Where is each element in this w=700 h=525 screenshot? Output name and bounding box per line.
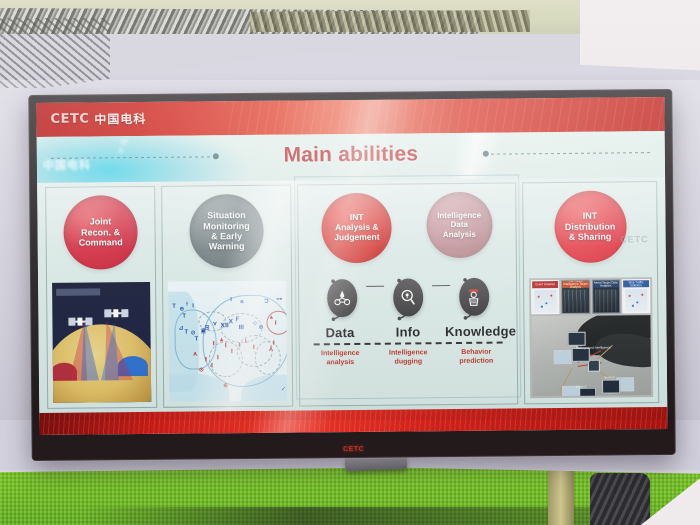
beam-blue-right xyxy=(100,322,119,380)
map-node-chip xyxy=(572,348,590,362)
data-molecule-icon xyxy=(327,279,357,317)
map-unit: ⊿ xyxy=(178,326,183,332)
map-unit: Ɔ xyxy=(264,299,268,305)
bubble-line-2: Data xyxy=(437,220,481,230)
thumbnail-content xyxy=(534,290,556,312)
magnifier-icon xyxy=(393,278,423,316)
artwork-intel-distribution: Event situation The Threat Intelligence … xyxy=(529,277,653,398)
bubble-line-2: Recon. & xyxy=(79,227,123,238)
report-thumbnail[interactable]: The Threat Intelligence Target Analysis xyxy=(561,280,590,314)
map-unit: ᴕ xyxy=(240,299,243,305)
map-unit: Ⅰ xyxy=(217,355,219,361)
report-thumbnails: Event situation The Threat Intelligence … xyxy=(531,279,650,314)
map-unit: Ⅰ xyxy=(245,339,247,345)
map-unit: ⅄ xyxy=(269,347,274,353)
slide-watermark-number: CETC xyxy=(620,234,649,244)
map-unit: Ｆ xyxy=(234,317,240,323)
report-thumbnail[interactable]: Aerial Target Data Analysis xyxy=(592,279,621,313)
slide-footer-band xyxy=(39,407,667,435)
thumbnail-caption: Ship Traffic Statistics xyxy=(623,280,649,287)
thumbnail-content xyxy=(625,289,647,311)
map-unit: ⋏ xyxy=(193,351,198,357)
flow-label-knowledge: Knowledge xyxy=(445,324,507,340)
tv-bezel-logo: CETC xyxy=(343,446,364,453)
map-unit: Ⅰ xyxy=(253,345,255,351)
thumbnail-caption: The Threat Intelligence Target Analysis xyxy=(562,281,588,288)
panel-int-distribution-sharing[interactable]: INT Distribution & Sharing CETC Event si… xyxy=(522,181,659,404)
map-unit: ✓ xyxy=(281,387,286,393)
artwork-caption-bar xyxy=(56,288,100,295)
slide-body: Joint Recon. & Command xyxy=(37,177,667,413)
map-label-b: Node B xyxy=(604,375,615,379)
map-node-chip xyxy=(602,379,620,393)
dashed-divider xyxy=(314,342,503,346)
cetc-chinese-name: 中国电科 xyxy=(94,110,146,127)
flow-step-knowledge[interactable] xyxy=(451,276,497,324)
map-water-body-2 xyxy=(595,331,652,370)
map-unit: I xyxy=(192,304,194,310)
map-unit: Ⅰ xyxy=(231,349,233,355)
flow-label-info: Info xyxy=(377,324,439,340)
slide-title-band: 中国电科 中国电科 Main abilities xyxy=(37,131,665,183)
bubble-line-1: Situation xyxy=(203,210,250,221)
map-node-chip xyxy=(554,350,572,364)
map-unit: T xyxy=(172,304,176,310)
label-text: Info xyxy=(377,324,439,340)
sublabel-intelligence-analysis: Intelligence analysis xyxy=(309,349,371,368)
map-unit: ⊛ xyxy=(223,383,228,389)
sublabel-intelligence-dugging: Intelligence dugging xyxy=(377,348,439,367)
bubble-line-3: Analysis xyxy=(437,229,481,239)
bubble-intelligence-data-analysis[interactable]: Intelligence Data Analysis xyxy=(426,192,493,259)
map-node-chip xyxy=(578,388,596,397)
bubble-line-2: Monitoring xyxy=(203,221,250,232)
map-unit: ⟊ xyxy=(186,302,188,308)
map-unit: Ⅹ xyxy=(228,319,233,325)
satellite-icon-left xyxy=(68,320,92,322)
bubble-line-3: Command xyxy=(79,237,123,248)
sublabel-line-2: analysis xyxy=(309,358,371,368)
map-unit: ⊛ xyxy=(258,325,263,331)
map-unit: Ⅰ xyxy=(239,343,241,349)
map-unit: T xyxy=(195,336,199,342)
report-thumbnail[interactable]: Event situation xyxy=(531,280,560,314)
bubble-situation-monitoring[interactable]: Situation Monitoring & Early Warning xyxy=(189,194,264,269)
flow-connector-1 xyxy=(366,286,384,287)
map-unit: ⊹ xyxy=(252,321,257,327)
bubble-line-3: & Sharing xyxy=(565,232,616,243)
map-unit: ⊶ xyxy=(276,297,282,303)
thumbnail-content xyxy=(595,289,617,311)
booth-scene: CETC CETC 中国电科 中国电科 中国电科 xyxy=(0,0,700,525)
brand-logo: CETC 中国电科 xyxy=(50,110,146,128)
report-thumbnail[interactable]: Ship Traffic Statistics xyxy=(622,279,651,313)
map-unit: T xyxy=(182,314,186,320)
sublabel-line-2: prediction xyxy=(445,357,507,367)
sublabel-behavior-prediction: Behavior prediction xyxy=(445,348,507,367)
label-text: Data xyxy=(309,325,371,341)
bubble-line-1: Intelligence xyxy=(437,211,481,221)
bubble-line-3: Judgement xyxy=(334,233,379,243)
map-unit: Ⅲ xyxy=(238,325,244,331)
map-node-chip xyxy=(568,332,586,346)
thumbnail-caption: Aerial Target Data Analysis xyxy=(593,280,619,287)
bubble-int-distribution-sharing[interactable]: INT Distribution & Sharing xyxy=(554,190,627,263)
map-unit: Ⅰ xyxy=(211,363,213,369)
flow-connector-2 xyxy=(432,285,450,286)
flow-labels: Data Info Knowledge xyxy=(299,323,516,340)
knowledge-person-icon xyxy=(459,278,489,316)
flow-step-info[interactable] xyxy=(385,276,431,324)
thumbnail-content xyxy=(564,290,586,312)
map-unit: Ⅰ xyxy=(213,341,215,347)
tire-object xyxy=(590,473,650,525)
map-unit: T xyxy=(185,330,189,336)
bubble-int-analysis-judgement[interactable]: INT Analysis & Judgement xyxy=(321,193,392,264)
flow-step-data[interactable] xyxy=(319,277,365,325)
map-unit: Ⅰ xyxy=(274,321,276,327)
map-unit: ⊕ xyxy=(179,307,184,313)
flow-nodes xyxy=(299,275,516,325)
map-unit: ⊞ xyxy=(204,325,209,331)
cetc-logo-text: CETC xyxy=(50,112,89,127)
bubble-line-4: Warning xyxy=(203,241,250,252)
floor-pillar xyxy=(548,465,574,525)
map-label-a: Node A xyxy=(576,385,587,389)
map-unit: Ⅰ xyxy=(225,343,227,349)
footer-pattern xyxy=(39,407,667,435)
terrain-map: Battleground Intelligence Node B Node A xyxy=(531,315,651,396)
flow-label-data: Data xyxy=(309,325,371,341)
map-unit: I xyxy=(230,297,232,303)
label-text: Knowledge xyxy=(445,324,507,340)
knowledge-flow-diagram: Data Info Knowledge xyxy=(299,261,517,405)
ceiling-truss-secondary xyxy=(250,10,530,32)
bubble-line-1: INT xyxy=(565,211,616,222)
map-unit: ⊙ xyxy=(199,367,204,373)
television: CETC CETC 中国电科 中国电科 中国电科 xyxy=(28,89,675,461)
panel-situation-monitoring[interactable]: Situation Monitoring & Early Warning xyxy=(161,185,293,408)
map-unit: Ⅰ xyxy=(205,357,207,363)
beam-blue-left xyxy=(80,318,99,380)
artwork-satellite-earth xyxy=(52,282,151,403)
artwork-situation-map: T ⊕ ⟊ I T ⊿ T ⊘ T ▣ ⊞ ⋎ Ⅻ xyxy=(168,281,287,402)
map-label-main: Battleground Intelligence xyxy=(576,346,611,350)
panel-int-analysis[interactable]: INT Analysis & Judgement Intelligence Da… xyxy=(297,182,518,406)
thumbnail-caption: Event situation xyxy=(532,281,558,288)
bubble-line-2: Distribution xyxy=(565,221,616,232)
satellite-icon-right xyxy=(104,312,128,314)
flow-sublabels: Intelligence analysis Intelligence duggi… xyxy=(300,347,517,367)
bubble-line-1: Joint xyxy=(78,217,122,228)
ceiling-truss-left xyxy=(0,18,110,88)
bubble-joint-recon-command[interactable]: Joint Recon. & Command xyxy=(63,195,138,270)
sublabel-line-2: dugging xyxy=(377,357,439,367)
ability-panels: Joint Recon. & Command xyxy=(45,181,659,409)
panel-joint-recon-command[interactable]: Joint Recon. & Command xyxy=(45,186,157,409)
map-unit: ⋎ xyxy=(212,321,217,327)
tv-screen: CETC 中国电科 中国电科 中国电科 Main abilities xyxy=(36,97,667,435)
